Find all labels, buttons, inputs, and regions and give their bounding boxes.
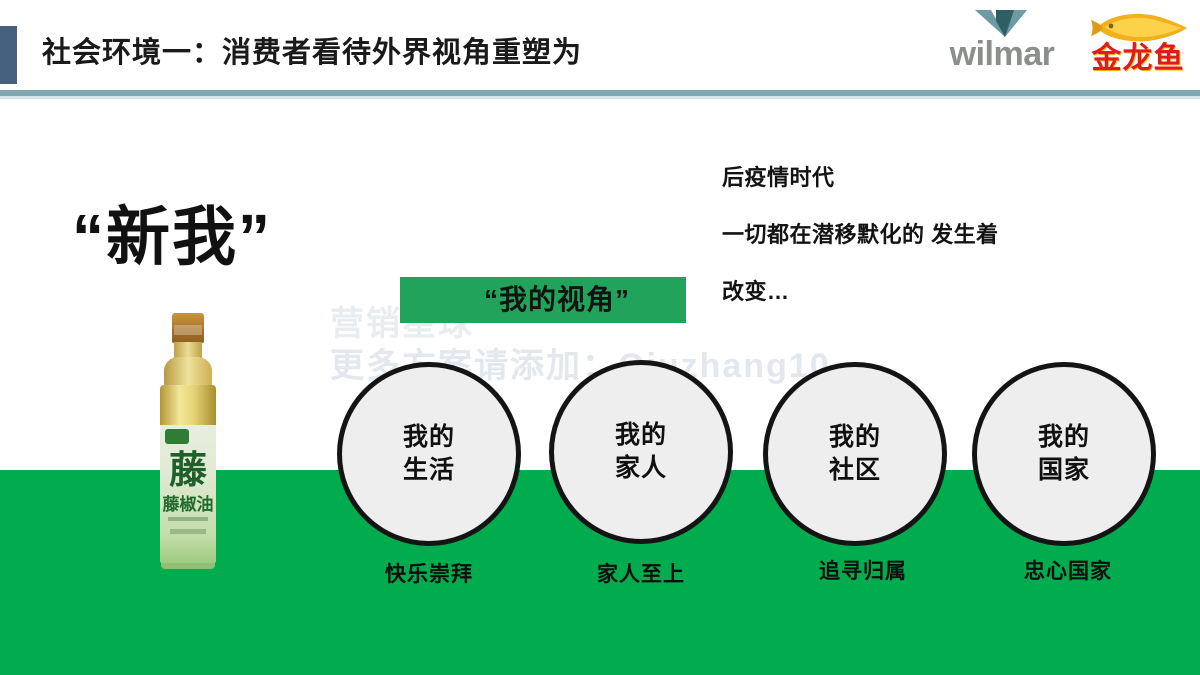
caption-my-life: 快乐崇拜 <box>329 562 529 588</box>
my-view-highlight-box: “我的视角” <box>400 277 686 323</box>
golden-arowana-fish-icon <box>1089 8 1189 44</box>
circle-my-life: 我的 生活 <box>337 362 521 546</box>
circle-my-country: 我的 国家 <box>972 362 1156 546</box>
my-view-label: “我的视角” <box>414 277 700 323</box>
caption-my-family: 家人至上 <box>541 562 741 588</box>
bottle-fineprint-2 <box>170 529 206 534</box>
bottle-fineprint-1 <box>168 517 208 521</box>
circle-my-country-line1: 我的 <box>977 421 1151 454</box>
right-copy-line-1: 后疫情时代 <box>722 163 1142 193</box>
circle-my-family: 我的 家人 <box>549 360 733 544</box>
bottle-base <box>161 563 215 569</box>
bottle-sub-char: 藤椒油 <box>160 495 216 515</box>
bottle-neck <box>174 342 202 358</box>
right-copy-block: 后疫情时代 一切都在潜移默化的 发生着 改变… <box>722 163 1142 334</box>
circle-my-life-line2: 生活 <box>342 454 516 487</box>
jinlongyu-wordmark: 金龙鱼 <box>1083 41 1193 77</box>
jinlongyu-logo: 金龙鱼 <box>1083 8 1193 84</box>
bottle-shoulder <box>164 357 212 387</box>
circle-my-community-line1: 我的 <box>768 421 942 454</box>
circle-my-community-label: 我的 社区 <box>768 421 942 487</box>
headline-new-me: “新我” <box>72 198 272 276</box>
bottle-big-char: 藤 <box>160 449 216 493</box>
circle-my-family-label: 我的 家人 <box>554 419 728 485</box>
right-copy-line-2: 一切都在潜移默化的 发生着 <box>722 220 1142 250</box>
bottle-brand-chip <box>165 429 189 444</box>
slide-header: 社会环境一：消费者看待外界视角重塑为 wilmar 金龙鱼 <box>0 0 1200 97</box>
bottle-leaf-art <box>160 539 216 565</box>
circle-my-country-label: 我的 国家 <box>977 421 1151 487</box>
caption-my-country: 忠心国家 <box>968 559 1168 585</box>
wilmar-logo: wilmar <box>932 6 1072 84</box>
circle-my-life-line1: 我的 <box>342 421 516 454</box>
circle-my-community-line2: 社区 <box>768 454 942 487</box>
page-title: 社会环境一：消费者看待外界视角重塑为 <box>42 33 582 73</box>
product-bottle-image: 藤 藤椒油 <box>152 313 224 583</box>
circle-my-life-label: 我的 生活 <box>342 421 516 487</box>
bottle-cap-label <box>174 325 202 335</box>
wilmar-wordmark: wilmar <box>932 34 1072 74</box>
circle-my-family-line1: 我的 <box>554 419 728 452</box>
circle-my-country-line2: 国家 <box>977 454 1151 487</box>
circle-my-family-line2: 家人 <box>554 452 728 485</box>
slide-canvas: 社会环境一：消费者看待外界视角重塑为 wilmar 金龙鱼 营销星球 更多方案请… <box>0 0 1200 675</box>
header-accent-bar <box>0 26 17 84</box>
caption-my-community: 追寻归属 <box>763 559 963 585</box>
circle-my-community: 我的 社区 <box>763 362 947 546</box>
right-copy-line-3: 改变… <box>722 277 1142 307</box>
header-divider-soft <box>0 96 1200 99</box>
